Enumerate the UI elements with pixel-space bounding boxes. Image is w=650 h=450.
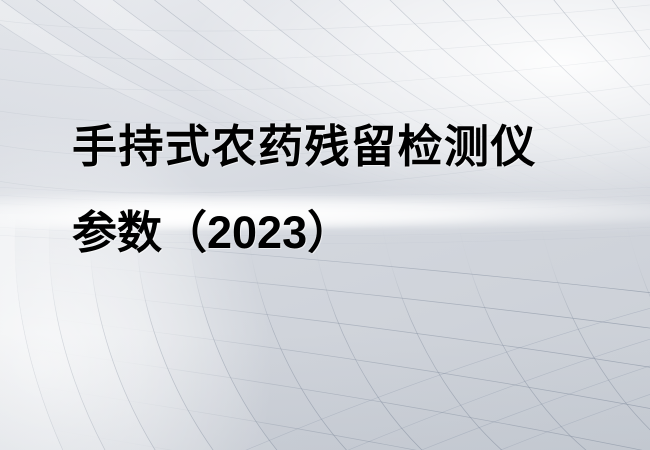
slide-title-block: 手持式农药残留检测仪 参数（2023） (72, 118, 612, 262)
slide-canvas: 手持式农药残留检测仪 参数（2023） (0, 0, 650, 450)
slide-title-line-2: 参数（2023） (72, 204, 612, 262)
slide-title-line-1: 手持式农药残留检测仪 (72, 118, 612, 176)
